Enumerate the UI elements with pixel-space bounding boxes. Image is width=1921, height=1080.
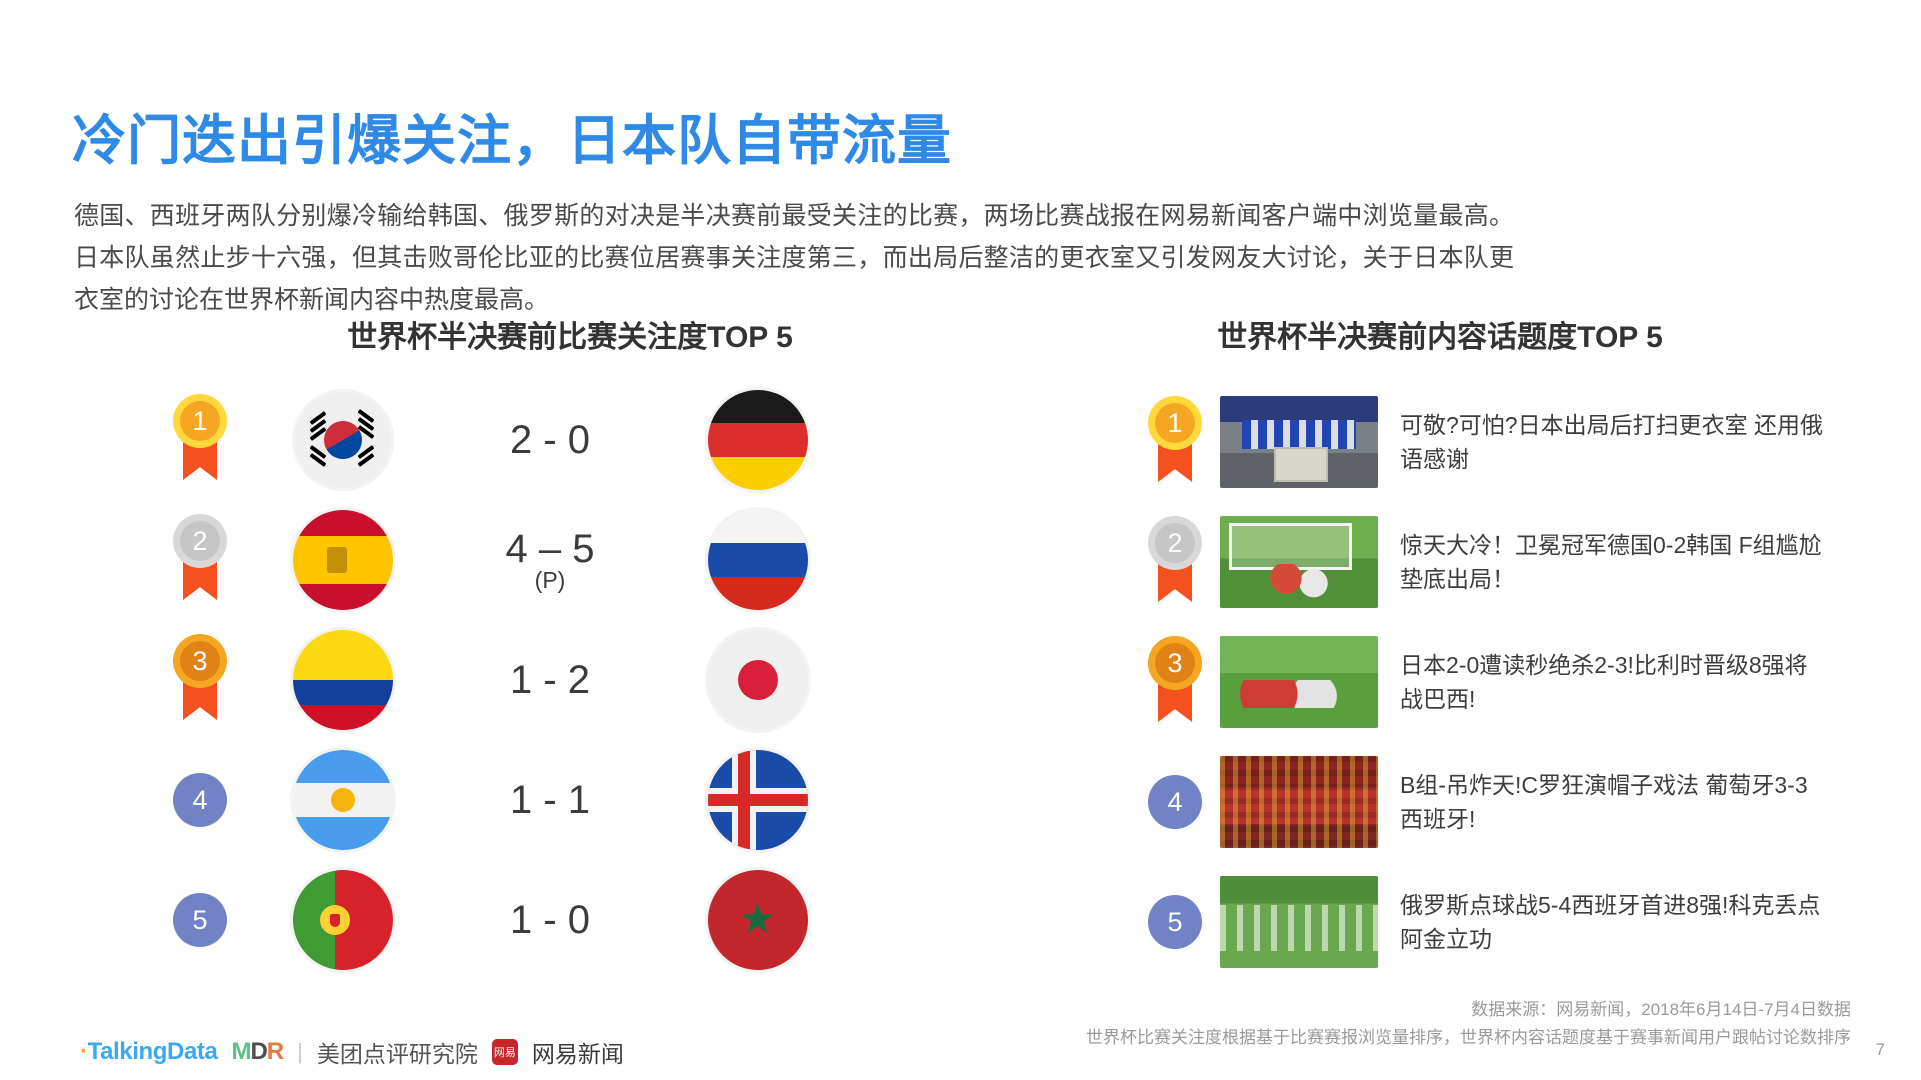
table-row[interactable]: 4 1 - 1 <box>145 740 865 860</box>
away-flag-cell <box>670 510 845 610</box>
rank-number: 2 <box>1155 523 1195 563</box>
band-red <box>293 705 393 730</box>
netease-logo-mark: 网易 <box>492 1039 518 1065</box>
rank-badge-5: 5 <box>173 893 227 947</box>
score-value: 1 - 0 <box>510 898 590 942</box>
armillary-seal-icon <box>320 905 350 935</box>
medal-disc: 2 <box>1148 516 1202 570</box>
band-red <box>708 577 808 610</box>
rank-cell: 4 <box>1130 775 1220 829</box>
news-thumbnail-celebration[interactable] <box>1220 876 1378 968</box>
home-flag-cell <box>255 750 430 850</box>
home-flag-cell <box>255 392 430 488</box>
rank-badge-4: 4 <box>1148 775 1202 829</box>
band-black <box>708 390 808 423</box>
table-row[interactable]: 2 4 – 5 (P) <box>145 500 865 620</box>
score-value: 1 - 1 <box>510 778 590 822</box>
rank-number: 4 <box>1167 787 1182 818</box>
table-row[interactable]: 1 2 - <box>145 380 865 500</box>
rank-cell: 2 <box>1130 516 1220 608</box>
rank-number: 3 <box>180 641 220 681</box>
band-white <box>708 510 808 543</box>
news-headline[interactable]: 俄罗斯点球战5-4西班牙首进8强!科克丢点阿金立功 <box>1400 888 1830 956</box>
band-blue <box>293 680 393 705</box>
logo-dot: · <box>80 1038 88 1065</box>
rank-cell: 5 <box>145 893 255 947</box>
flag-morocco-icon: ★ <box>708 870 808 970</box>
logo-bar: ·TalkingData MDR | 美团点评研究院 网易 网易新闻 <box>80 1035 624 1069</box>
rank-number: 2 <box>180 521 220 561</box>
score-note: (P) <box>430 568 670 592</box>
score-value: 2 - 0 <box>510 418 590 462</box>
gold-medal-icon: 1 <box>169 394 231 486</box>
news-thumbnail-goal-save[interactable] <box>1220 516 1378 608</box>
pentagram-icon: ★ <box>739 898 777 940</box>
mdr-letter-d: D <box>250 1038 266 1065</box>
rank-badge-5: 5 <box>1148 895 1202 949</box>
medal-disc: 3 <box>173 634 227 688</box>
band-red <box>708 423 808 456</box>
rank-cell: 3 <box>145 634 255 726</box>
rank-number: 4 <box>192 785 207 816</box>
talkingdata-logo-text: TalkingData <box>88 1038 218 1065</box>
rank-cell: 1 <box>1130 396 1220 488</box>
page-title: 冷门迭出引爆关注，日本队自带流量 <box>72 96 952 175</box>
away-flag-cell: ★ <box>670 870 845 970</box>
home-flag-cell <box>255 510 430 610</box>
mdr-logo: MDR <box>231 1038 283 1066</box>
away-flag-cell <box>670 750 845 850</box>
page-number: 7 <box>1876 1040 1885 1060</box>
flag-germany-icon <box>708 390 808 490</box>
news-ranking-list: 1 可敬?可怕?日本出局后打扫更衣室 还用俄语感谢 2 惊天大冷！卫冕冠军德国0… <box>1130 382 1830 982</box>
left-section-heading: 世界杯半决赛前比赛关注度TOP 5 <box>290 312 850 356</box>
medal-disc: 3 <box>1148 636 1202 690</box>
flag-japan-icon <box>708 630 808 730</box>
score-cell: 1 - 1 <box>430 779 670 821</box>
flag-iceland-icon <box>708 750 808 850</box>
slide-canvas: 冷门迭出引爆关注，日本队自带流量 德国、西班牙两队分别爆冷输给韩国、俄罗斯的对决… <box>0 0 1921 1080</box>
news-thumbnail-locker-room[interactable] <box>1220 396 1378 488</box>
score-value: 1 - 2 <box>510 658 590 702</box>
netease-news-logo-text: 网易新闻 <box>532 1035 624 1069</box>
table-row[interactable]: 3 1 - 2 <box>145 620 865 740</box>
home-flag-cell <box>255 870 430 970</box>
flag-colombia-icon <box>293 630 393 730</box>
methodology-line: 世界杯比赛关注度根据基于比赛赛报浏览量排序，世界杯内容话题度基于赛事新闻用户跟帖… <box>1086 1024 1851 1052</box>
flag-russia-icon <box>708 510 808 610</box>
list-item[interactable]: 5 俄罗斯点球战5-4西班牙首进8强!科克丢点阿金立功 <box>1130 862 1830 982</box>
rank-number: 5 <box>1167 907 1182 938</box>
bronze-medal-icon: 3 <box>1144 636 1206 728</box>
coat-of-arms-shape <box>327 547 347 573</box>
rank-cell: 4 <box>145 773 255 827</box>
table-row[interactable]: 5 1 - 0 ★ <box>145 860 865 980</box>
news-headline[interactable]: B组-吊炸天!C罗狂演帽子戏法 葡萄牙3-3西班牙! <box>1400 768 1830 836</box>
talkingdata-logo: ·TalkingData <box>80 1038 217 1066</box>
cross-red-vertical <box>738 750 750 850</box>
score-cell: 2 - 0 <box>430 419 670 461</box>
flag-argentina-icon <box>293 750 393 850</box>
news-headline[interactable]: 日本2-0遭读秒绝杀2-3!比利时晋级8强将战巴西! <box>1400 648 1830 716</box>
match-ranking-list: 1 2 - <box>145 380 865 980</box>
band-gold <box>708 457 808 490</box>
rank-cell: 2 <box>145 514 255 606</box>
data-source-line: 数据来源：网易新闻，2018年6月14日-7月4日数据 <box>1086 996 1851 1024</box>
rank-number: 1 <box>180 401 220 441</box>
band-lightblue-bottom <box>293 817 393 850</box>
away-flag-cell <box>670 630 845 730</box>
logo-separator: | <box>297 1039 303 1065</box>
score-cell: 1 - 2 <box>430 659 670 701</box>
news-thumbnail-pitch-tackle[interactable] <box>1220 636 1378 728</box>
score-cell: 1 - 0 <box>430 899 670 941</box>
intro-paragraph: 德国、西班牙两队分别爆冷输给韩国、俄罗斯的对决是半决赛前最受关注的比赛，两场比赛… <box>74 195 1514 321</box>
rank-number: 1 <box>1155 403 1195 443</box>
gold-medal-icon: 1 <box>1144 396 1206 488</box>
flag-portugal-icon <box>293 870 393 970</box>
score-value: 4 – 5 <box>506 527 595 571</box>
silver-medal-icon: 2 <box>169 514 231 606</box>
away-flag-cell <box>670 390 845 490</box>
list-item[interactable]: 1 可敬?可怕?日本出局后打扫更衣室 还用俄语感谢 <box>1130 382 1830 502</box>
medal-disc: 1 <box>173 394 227 448</box>
score-cell: 4 – 5 (P) <box>430 528 670 592</box>
band-lightblue-top <box>293 750 393 783</box>
home-flag-cell <box>255 630 430 730</box>
news-headline[interactable]: 惊天大冷！卫冕冠军德国0-2韩国 F组尴尬垫底出局！ <box>1400 528 1830 596</box>
news-thumbnail-crowd[interactable] <box>1220 756 1378 848</box>
medal-disc: 1 <box>1148 396 1202 450</box>
list-item[interactable]: 4 B组-吊炸天!C罗狂演帽子戏法 葡萄牙3-3西班牙! <box>1130 742 1830 862</box>
band-red-top <box>293 510 393 536</box>
rising-sun-disc <box>738 660 778 700</box>
medal-disc: 2 <box>173 514 227 568</box>
silver-medal-icon: 2 <box>1144 516 1206 608</box>
rank-cell: 3 <box>1130 636 1220 728</box>
bronze-medal-icon: 3 <box>169 634 231 726</box>
right-section-heading: 世界杯半决赛前内容话题度TOP 5 <box>1160 312 1720 356</box>
list-item[interactable]: 2 惊天大冷！卫冕冠军德国0-2韩国 F组尴尬垫底出局！ <box>1130 502 1830 622</box>
flag-spain-icon <box>293 510 393 610</box>
footnote-block: 数据来源：网易新闻，2018年6月14日-7月4日数据 世界杯比赛关注度根据基于… <box>1086 996 1851 1052</box>
rank-number: 5 <box>192 905 207 936</box>
band-yellow <box>293 630 393 680</box>
cross-red-horizontal <box>708 794 808 806</box>
mdr-letter-r: R <box>267 1038 283 1065</box>
sun-of-may-icon <box>334 791 352 809</box>
rank-cell: 5 <box>1130 895 1220 949</box>
rank-number: 3 <box>1155 643 1195 683</box>
mdr-letter-m: M <box>231 1038 250 1065</box>
meituan-research-logo-text: 美团点评研究院 <box>317 1035 478 1069</box>
news-headline[interactable]: 可敬?可怕?日本出局后打扫更衣室 还用俄语感谢 <box>1400 408 1830 476</box>
flag-korea-icon <box>295 392 391 488</box>
band-red-bottom <box>293 584 393 610</box>
list-item[interactable]: 3 日本2-0遭读秒绝杀2-3!比利时晋级8强将战巴西! <box>1130 622 1830 742</box>
rank-badge-4: 4 <box>173 773 227 827</box>
rank-cell: 1 <box>145 394 255 486</box>
band-blue <box>708 543 808 576</box>
